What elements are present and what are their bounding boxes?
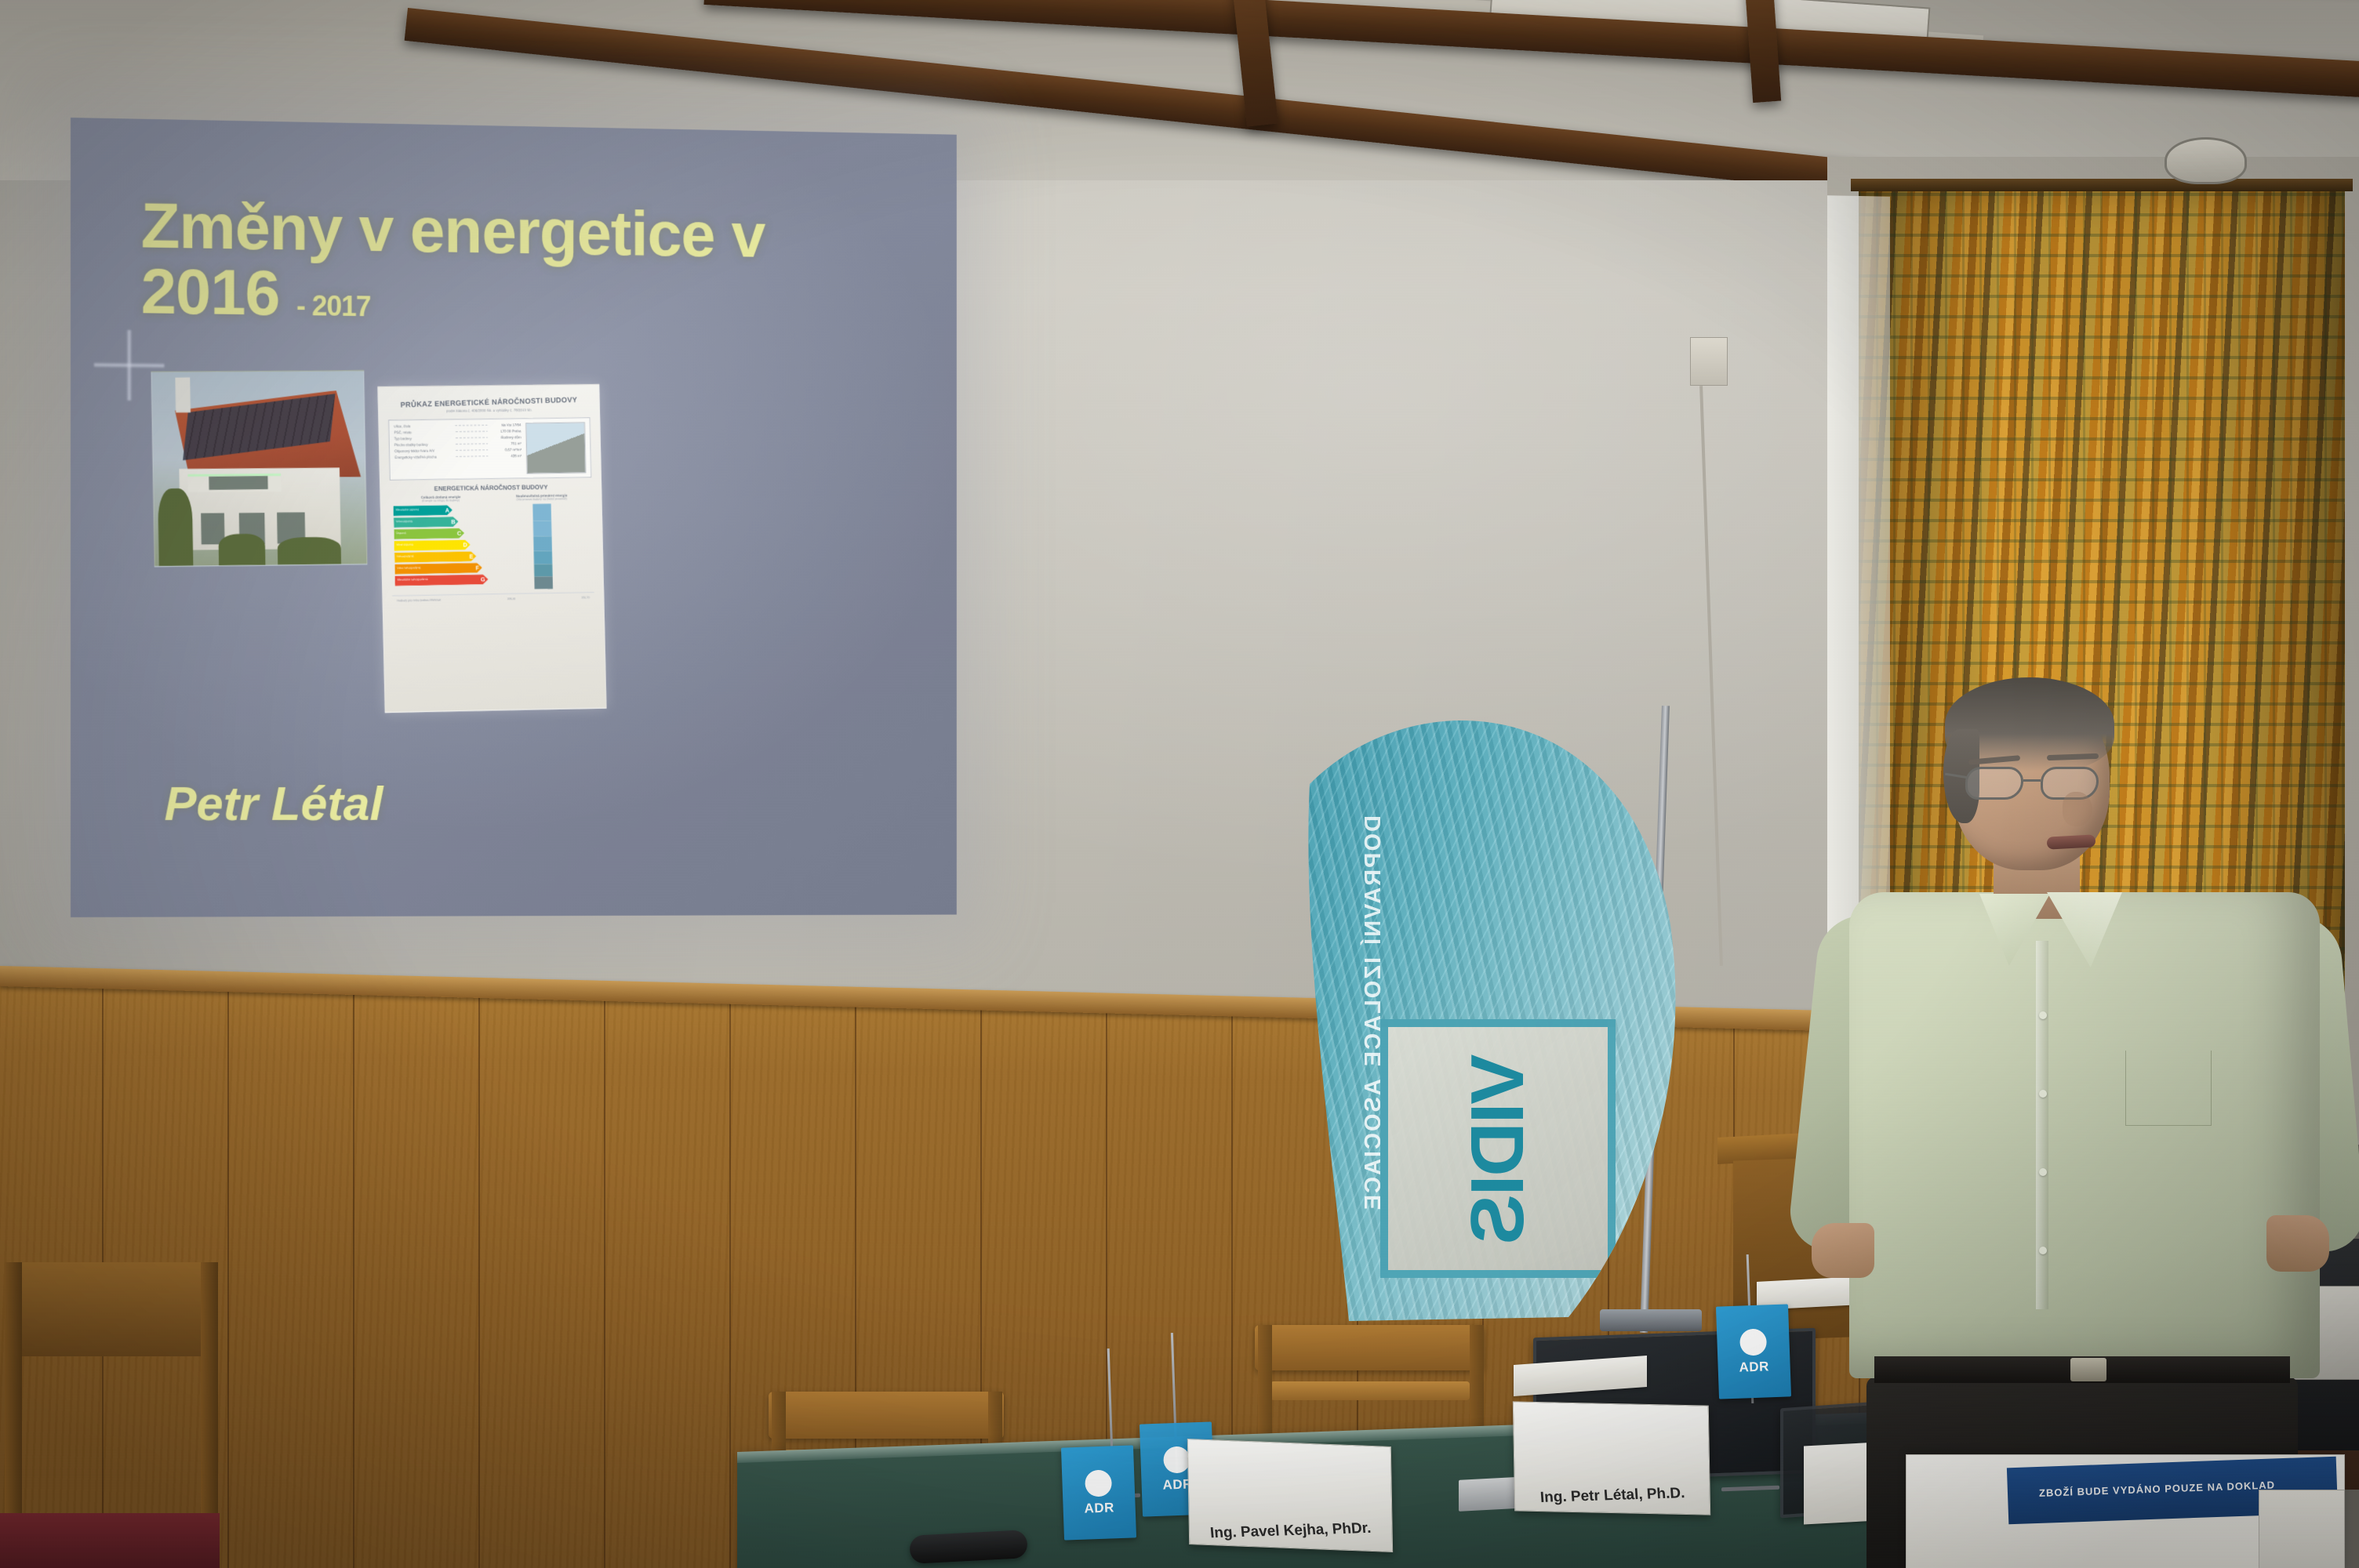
certificate-section-heading: ENERGETICKÁ NÁROČNOST BUDOVY	[390, 483, 592, 492]
banner-base	[1600, 1309, 1702, 1331]
dot-leader	[456, 449, 488, 451]
info-value: 751 m²	[491, 441, 522, 445]
nameplate-petr-letal: Ing. Petr Létal, Ph.D.	[1513, 1401, 1710, 1515]
house-bush	[218, 534, 265, 565]
wall-clock	[2165, 137, 2247, 184]
adr-circle-icon	[1739, 1328, 1767, 1356]
info-key: Typ budovy	[394, 436, 453, 441]
glasses-icon	[1965, 767, 2114, 803]
info-key: Ulice, číslo	[394, 423, 453, 428]
scale-letter: A	[445, 506, 449, 514]
adr-flag-3: ADR	[1716, 1304, 1791, 1399]
scale-row: Mimořádně úsporná A	[393, 504, 489, 516]
adr-circle-icon	[1163, 1446, 1190, 1473]
scale-label: Úsporná	[396, 532, 406, 535]
info-value: 0,67 m²/m³	[491, 448, 522, 452]
wall-junction-box	[1690, 337, 1728, 386]
adr-label: ADR	[1739, 1359, 1769, 1375]
chair-back	[769, 1392, 1004, 1439]
scale-letter: C	[457, 530, 461, 537]
scale-row: Úsporná C	[394, 528, 489, 539]
bar-segment	[533, 503, 551, 521]
scale-letter: G	[481, 575, 485, 583]
chair-seat	[0, 1513, 220, 1568]
certificate-footer: Hodnoty pro celou budovu MWh/rok 108,20 …	[392, 592, 594, 602]
banner-word-1: DOPRAVNÍ	[1361, 815, 1387, 946]
slide-title: Změny v energetice v 2016 - 2017	[141, 194, 830, 334]
slide-title-year-range: - 2017	[296, 289, 371, 322]
house-bush	[158, 488, 193, 566]
certificate-info-box: Ulice, číslo Na Vsi 17/64 PSČ, místo 170…	[388, 417, 591, 480]
nameplate-pavel-kejha: Ing. Pavel Kejha, PhDr.	[1187, 1439, 1393, 1552]
info-row: Plocha obálky budovy 751 m²	[394, 441, 522, 447]
info-row: PSČ, místo 170 00 Praha	[394, 429, 521, 434]
certificate-building-thumbnail	[525, 422, 586, 474]
info-value: Na Vsi 17/64	[490, 423, 521, 426]
scale-letter: B	[451, 518, 455, 525]
presenter-right-hand	[2266, 1215, 2329, 1272]
info-key: Plocha obálky budovy	[394, 442, 453, 447]
chair-foreground-left	[0, 1262, 227, 1568]
house-bush	[278, 537, 341, 564]
scale-letter: D	[463, 541, 467, 548]
slide-title-year: 2016	[141, 256, 280, 328]
scale-label: Mimořádně nehospodárná	[398, 579, 428, 582]
presenter-shirt-pocket	[2125, 1051, 2212, 1126]
info-value: 170 00 Praha	[491, 429, 522, 433]
dot-leader	[456, 431, 488, 432]
scale-label: Mimořádně úsporná	[396, 509, 420, 512]
dot-leader	[456, 425, 488, 426]
chair-slat	[1270, 1381, 1470, 1400]
info-key: Energeticky vztažná plocha	[394, 455, 453, 459]
adr-label: ADR	[1084, 1500, 1114, 1516]
slide-author: Petr Létal	[165, 776, 383, 832]
bar-segment	[534, 550, 553, 564]
scale-label: Velmi nehospodárná	[397, 568, 420, 571]
banner-logo-box: VIDIS	[1380, 1019, 1616, 1278]
energy-rating-scale: Mimořádně úsporná A Velmi úsporná B	[393, 504, 490, 586]
adr-circle-icon	[1085, 1469, 1112, 1497]
house-chimney	[175, 378, 191, 413]
footer-value-left: 108,20	[507, 597, 515, 600]
dot-leader	[456, 456, 489, 457]
presenter-shirt	[1849, 892, 2320, 1378]
scale-row: Velmi nehospodárná F	[394, 563, 490, 575]
house-window	[209, 476, 268, 490]
bar-segment	[534, 576, 553, 589]
slide-energy-certificate: PRŮKAZ ENERGETICKÉ NÁROČNOSTI BUDOVY pod…	[377, 384, 606, 713]
footer-value-right: 182,70	[581, 596, 590, 599]
col-subtitle: (Energie na vstupu do budovy)	[393, 499, 488, 503]
slide-house-photo	[151, 370, 367, 567]
banner-brand-text: VIDIS	[1455, 1054, 1541, 1243]
energy-bar-chart	[495, 503, 591, 590]
presenter-left-hand	[1812, 1223, 1874, 1278]
banner-top-text: DOPRAVNÍ IZOLACE ASOCIACE	[1361, 815, 1643, 1051]
info-row: Ulice, číslo Na Vsi 17/64	[394, 423, 521, 428]
box-flap	[2259, 1490, 2345, 1568]
info-value: Rodinný dům	[491, 435, 522, 439]
certificate-info-rows: Ulice, číslo Na Vsi 17/64 PSČ, místo 170…	[394, 423, 522, 475]
photo-scene: Změny v energetice v 2016 - 2017 PRŮKAZ …	[0, 0, 2359, 1568]
bar-segment	[533, 536, 552, 551]
glasses-bridge	[2023, 779, 2041, 782]
shirt-button	[2039, 1247, 2047, 1254]
scale-letter: E	[469, 553, 473, 560]
curtain-rod	[1851, 179, 2353, 191]
dot-leader	[456, 443, 488, 445]
chair-back	[8, 1262, 212, 1356]
shirt-button	[2039, 1090, 2047, 1098]
scale-letter: F	[475, 564, 479, 572]
presenter-belt-buckle	[2070, 1358, 2106, 1381]
scale-row: Méně úsporná D	[394, 539, 489, 551]
projected-slide: Změny v energetice v 2016 - 2017 PRŮKAZ …	[71, 118, 957, 917]
adr-flag-1: ADR	[1061, 1445, 1136, 1540]
scale-row: Nehospodárná E	[394, 551, 490, 563]
bar-segment	[533, 521, 552, 536]
presenter-nose	[2063, 792, 2092, 826]
info-key: PSČ, místo	[394, 430, 453, 434]
scale-row: Velmi úsporná B	[394, 516, 489, 528]
info-row: Typ budovy Rodinný dům	[394, 435, 521, 441]
chair-back	[1255, 1325, 1484, 1370]
bar-segment	[534, 564, 553, 576]
info-row: Objemový faktor tvaru A/V 0,67 m²/m³	[394, 448, 522, 453]
certificate-col-left: Celková dodaná energie (Energie na vstup…	[393, 495, 490, 592]
nameplate-text: Ing. Pavel Kejha, PhDr.	[1209, 1520, 1372, 1543]
col-subtitle: (Vliv provozu budovy na životní prostřed…	[494, 497, 589, 502]
info-row: Energeticky vztažná plocha 426 m²	[394, 454, 522, 459]
scale-row: Mimořádně nehospodárná G	[394, 574, 490, 586]
shirt-button	[2039, 1011, 2047, 1019]
presenter-standing	[1812, 682, 2345, 1568]
shirt-button	[2039, 1168, 2047, 1176]
scale-label: Velmi úsporná	[396, 521, 413, 524]
certificate-col-right: Neobnovitelná primární energie (Vliv pro…	[494, 493, 591, 590]
box-label-text: ZBOŽÍ BUDE VYDÁNO POUZE NA DOKLAD	[2039, 1479, 2276, 1499]
glasses-lens-left	[1965, 767, 2023, 800]
info-value: 426 m²	[491, 454, 522, 458]
dot-leader	[456, 437, 488, 438]
info-key: Objemový faktor tvaru A/V	[394, 448, 453, 453]
certificate-columns: Celková dodaná energie (Energie na vstup…	[390, 493, 594, 592]
nameplate-text: Ing. Petr Létal, Ph.D.	[1539, 1485, 1685, 1507]
presenter-mouth	[2047, 834, 2096, 849]
scale-label: Méně úsporná	[397, 544, 413, 547]
footer-label: Hodnoty pro celou budovu MWh/rok	[397, 598, 441, 602]
scale-label: Nehospodárná	[397, 556, 414, 559]
